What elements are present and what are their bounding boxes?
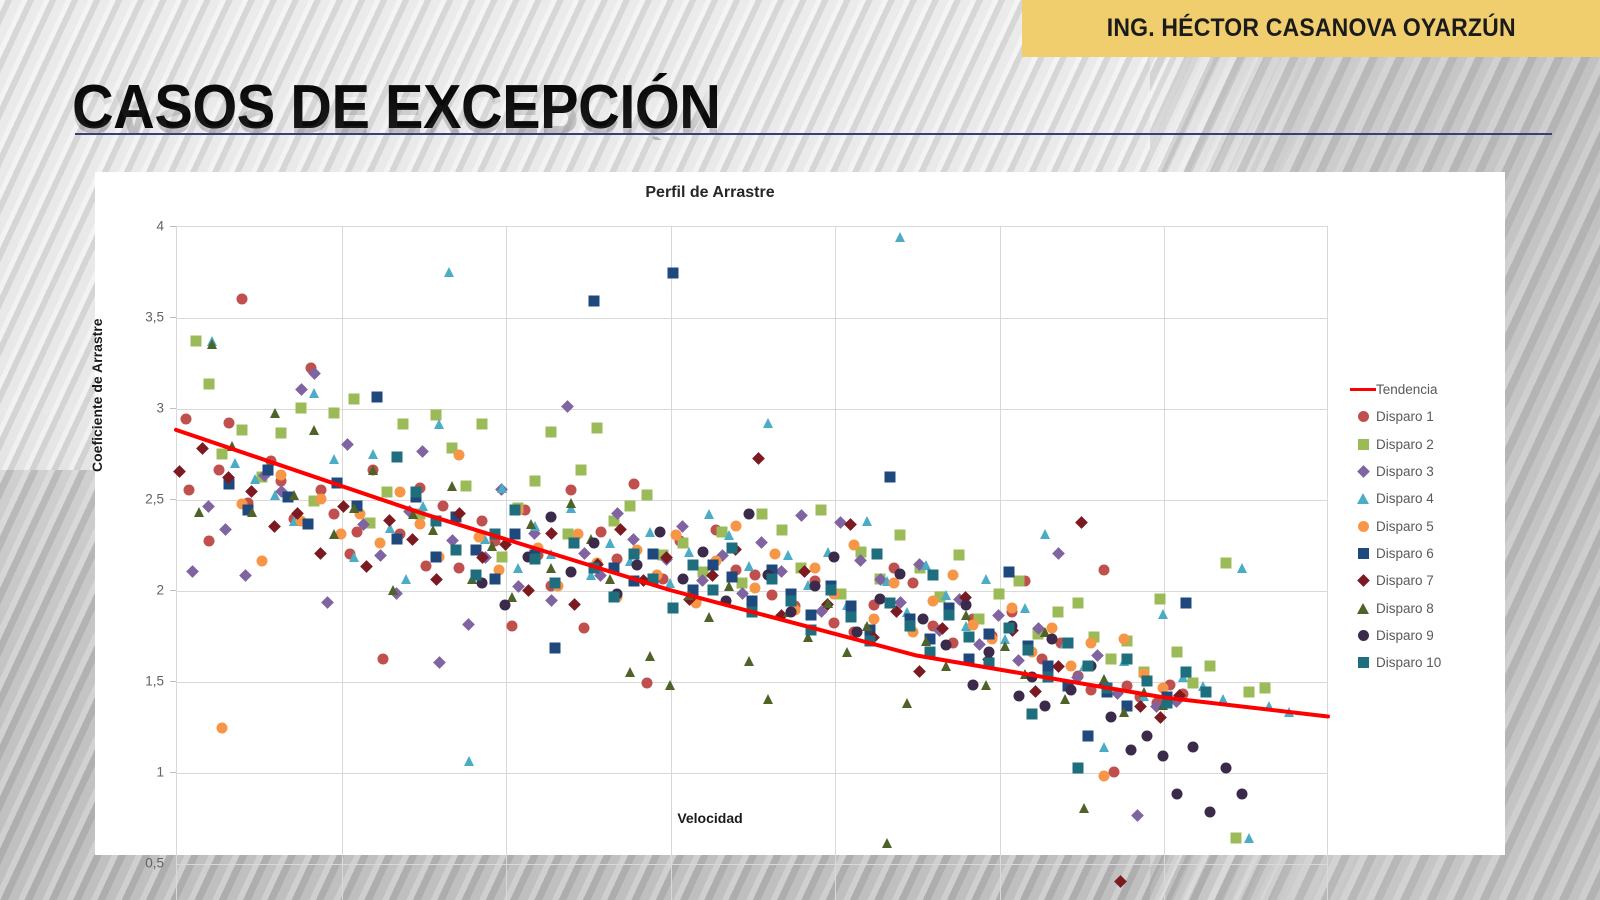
legend-item-disparo-1[interactable]: Disparo 1 — [1350, 403, 1500, 430]
scatter-point — [865, 635, 876, 646]
square-marker-icon — [1350, 548, 1376, 559]
scatter-point — [825, 585, 836, 596]
scatter-point — [500, 599, 511, 610]
scatter-point — [648, 574, 659, 585]
scatter-point — [1040, 529, 1050, 539]
scatter-point — [944, 610, 955, 621]
scatter-point — [378, 654, 389, 665]
scatter-point — [464, 756, 474, 766]
scatter-point — [983, 657, 994, 668]
scatter-point — [928, 595, 939, 606]
scatter-point — [687, 559, 698, 570]
scatter-point — [809, 563, 820, 574]
scatter-point — [763, 418, 773, 428]
scatter-point — [964, 632, 975, 643]
scatter-point — [450, 544, 461, 555]
scatter-point — [752, 453, 765, 466]
scatter-point — [1099, 770, 1110, 781]
scatter-point — [1029, 686, 1042, 699]
scatter-point — [247, 507, 257, 517]
scatter-point — [270, 408, 280, 418]
scatter-point — [295, 383, 308, 396]
scatter-point — [321, 596, 334, 609]
scatter-point — [1043, 672, 1054, 683]
scatter-point — [823, 598, 833, 608]
scatter-point — [487, 541, 497, 551]
scatter-point — [341, 438, 354, 451]
scatter-point — [1109, 767, 1120, 778]
scatter-point — [947, 570, 958, 581]
scatter-point — [895, 232, 905, 242]
circle-marker-icon — [1350, 521, 1376, 532]
scatter-point — [993, 588, 1004, 599]
scatter-point — [704, 612, 714, 622]
scatter-point — [1003, 623, 1014, 634]
scatter-point — [1079, 803, 1089, 813]
scatter-point — [217, 448, 228, 459]
scatter-point — [628, 479, 639, 490]
scatter-point — [641, 677, 652, 688]
scatter-point — [398, 419, 409, 430]
scatter-point — [302, 519, 313, 530]
scatter-point — [496, 552, 507, 563]
scatter-point — [981, 680, 991, 690]
scatter-point — [391, 452, 402, 463]
scatter-point — [575, 464, 586, 475]
scatter-point — [236, 424, 247, 435]
scatter-point — [1012, 655, 1025, 668]
scatter-point — [589, 563, 600, 574]
scatter-point — [885, 472, 896, 483]
scatter-point — [1072, 597, 1083, 608]
scatter-point — [332, 477, 343, 488]
scatter-point — [1020, 603, 1030, 613]
scatter-point — [641, 490, 652, 501]
header-banner-text: ING. HÉCTOR CASANOVA OYARZÚN — [1107, 14, 1516, 43]
scatter-point — [1158, 750, 1169, 761]
scatter-point — [1122, 681, 1133, 692]
scatter-point — [829, 552, 840, 563]
scatter-point — [526, 519, 536, 529]
scatter-point — [1237, 788, 1248, 799]
circle-marker-icon — [1350, 630, 1376, 641]
scatter-point — [1105, 712, 1116, 723]
scatter-point — [1204, 807, 1215, 818]
scatter-point — [882, 838, 892, 848]
legend-item-disparo-6[interactable]: Disparo 6 — [1350, 540, 1500, 567]
scatter-point — [983, 628, 994, 639]
circle-marker-icon — [1350, 411, 1376, 422]
scatter-point — [1158, 609, 1168, 619]
scatter-point — [795, 509, 808, 522]
triangle-marker-icon — [1350, 603, 1376, 614]
legend-item-label: Disparo 3 — [1376, 464, 1434, 479]
scatter-point — [605, 538, 615, 548]
legend-item-label: Disparo 7 — [1376, 573, 1434, 588]
scatter-point — [967, 619, 978, 630]
scatter-point — [203, 535, 214, 546]
scatter-point — [786, 606, 797, 617]
scatter-point — [684, 547, 694, 557]
legend-item-label: Disparo 6 — [1376, 546, 1434, 561]
scatter-point — [289, 490, 299, 500]
scatter-point — [961, 610, 971, 620]
scatter-point — [921, 560, 931, 570]
scatter-point — [720, 595, 731, 606]
scatter-point — [268, 520, 281, 533]
scatter-point — [569, 537, 580, 548]
scatter-point — [727, 543, 738, 554]
scatter-point — [374, 549, 387, 562]
chart-panel: Perfil de Arrastre Coeficiente de Arrast… — [95, 172, 1505, 855]
legend-item-label: Disparo 5 — [1376, 519, 1434, 534]
scatter-point — [407, 533, 420, 546]
scatter-point — [1102, 683, 1113, 694]
scatter-point — [852, 626, 863, 637]
scatter-point — [1026, 708, 1037, 719]
scatter-point — [724, 581, 734, 591]
scatter-point — [545, 527, 558, 540]
diamond-marker-icon — [1350, 467, 1376, 476]
scatter-point — [276, 470, 287, 481]
scatter-point — [428, 525, 438, 535]
scatter-point — [677, 574, 688, 585]
scatter-point — [433, 656, 446, 669]
scatter-point — [250, 474, 260, 484]
legend-item-label: Disparo 9 — [1376, 628, 1434, 643]
scatter-point — [444, 267, 454, 277]
scatter-point — [196, 442, 209, 455]
scatter-point — [941, 590, 951, 600]
scatter-point — [414, 519, 425, 530]
scatter-point — [1023, 645, 1034, 656]
scatter-point — [391, 534, 402, 545]
scatter-point — [349, 503, 359, 513]
scatter-point — [565, 484, 576, 495]
scatter-point — [744, 561, 754, 571]
scatter-point — [862, 516, 872, 526]
legend-item-disparo-4[interactable]: Disparo 4 — [1350, 485, 1500, 512]
legend-item-disparo-3[interactable]: Disparo 3 — [1350, 458, 1500, 485]
scatter-point — [219, 524, 232, 537]
scatter-point — [1188, 677, 1199, 688]
scatter-plot-area — [95, 172, 1505, 855]
scatter-point — [296, 403, 307, 414]
scatter-point — [628, 548, 639, 559]
scatter-point — [566, 498, 576, 508]
scatter-point — [263, 464, 274, 475]
scatter-point — [589, 537, 600, 548]
scatter-point — [744, 656, 754, 666]
scatter-point — [595, 526, 606, 537]
scatter-point — [1086, 637, 1097, 648]
scatter-point — [473, 532, 484, 543]
scatter-point — [408, 509, 418, 519]
scatter-point — [913, 666, 926, 679]
scatter-point — [589, 295, 600, 306]
scatter-point — [190, 335, 201, 346]
scatter-point — [349, 552, 359, 562]
chart-legend: TendenciaDisparo 1Disparo 2Disparo 3Disp… — [1350, 376, 1500, 676]
scatter-point — [329, 454, 339, 464]
scatter-point — [270, 490, 280, 500]
scatter-point — [755, 536, 768, 549]
scatter-point — [992, 609, 1005, 622]
scatter-point — [203, 379, 214, 390]
scatter-point — [194, 507, 204, 517]
scatter-point — [1155, 594, 1166, 605]
scatter-point — [1244, 833, 1254, 843]
line-marker-icon — [1350, 388, 1376, 391]
scatter-point — [684, 590, 694, 600]
scatter-point — [529, 554, 540, 565]
scatter-point — [697, 546, 708, 557]
scatter-point — [1086, 685, 1097, 696]
scatter-point — [1201, 686, 1212, 697]
scatter-point — [361, 560, 374, 573]
legend-item-disparo-9[interactable]: Disparo 9 — [1350, 622, 1500, 649]
scatter-point — [1105, 654, 1116, 665]
scatter-point — [750, 570, 761, 581]
scatter-point — [186, 565, 199, 578]
scatter-point — [506, 621, 517, 632]
scatter-point — [236, 293, 247, 304]
scatter-point — [665, 680, 675, 690]
scatter-point — [895, 568, 906, 579]
scatter-point — [806, 625, 817, 636]
scatter-point — [454, 450, 465, 461]
scatter-point — [490, 528, 501, 539]
scatter-point — [411, 486, 422, 497]
scatter-point — [1082, 730, 1093, 741]
scatter-point — [872, 548, 883, 559]
scatter-point — [924, 646, 935, 657]
legend-item-disparo-10[interactable]: Disparo 10 — [1350, 649, 1500, 676]
scatter-point — [829, 617, 840, 628]
scatter-point — [704, 509, 714, 519]
scatter-point — [1134, 700, 1147, 713]
scatter-point — [842, 647, 852, 657]
scatter-point — [1204, 661, 1215, 672]
scatter-point — [763, 694, 773, 704]
scatter-point — [1264, 701, 1274, 711]
scatter-point — [309, 388, 319, 398]
scatter-point — [1181, 666, 1192, 677]
scatter-point — [1060, 694, 1070, 704]
scatter-point — [1075, 516, 1088, 529]
scatter-point — [568, 598, 581, 611]
scatter-point — [724, 530, 734, 540]
scatter-point — [904, 621, 915, 632]
scatter-point — [309, 425, 319, 435]
scatter-point — [981, 574, 991, 584]
scatter-point — [1161, 697, 1172, 708]
scatter-point — [766, 590, 777, 601]
scatter-point — [578, 547, 591, 560]
scatter-point — [217, 723, 228, 734]
legend-item-label: Disparo 10 — [1376, 655, 1441, 670]
scatter-point — [928, 570, 939, 581]
scatter-point — [862, 621, 872, 631]
header-banner: ING. HÉCTOR CASANOVA OYARZÚN — [1022, 0, 1600, 57]
scatter-point — [625, 667, 635, 677]
scatter-point — [401, 574, 411, 584]
scatter-point — [239, 569, 252, 582]
scatter-point — [1000, 641, 1010, 651]
scatter-point — [510, 528, 521, 539]
scatter-point — [671, 530, 682, 541]
scatter-point — [565, 566, 576, 577]
scatter-point — [776, 524, 787, 535]
scatter-point — [1220, 557, 1231, 568]
scatter-point — [786, 595, 797, 606]
legend-item-label: Disparo 8 — [1376, 601, 1434, 616]
scatter-point — [1171, 646, 1182, 657]
scatter-point — [381, 486, 392, 497]
scatter-point — [579, 623, 590, 634]
scatter-point — [888, 577, 899, 588]
scatter-point — [592, 423, 603, 434]
scatter-point — [983, 646, 994, 657]
scatter-point — [1072, 763, 1083, 774]
scatter-point — [213, 464, 224, 475]
scatter-point — [1139, 687, 1149, 697]
scatter-point — [1125, 745, 1136, 756]
scatter-point — [256, 555, 267, 566]
legend-item-label: Disparo 2 — [1376, 437, 1434, 452]
scatter-point — [665, 578, 675, 588]
gridline-horizontal — [177, 864, 1327, 865]
scatter-point — [549, 577, 560, 588]
scatter-point — [437, 501, 448, 512]
scatter-point — [770, 548, 781, 559]
triangle-marker-icon — [1350, 493, 1376, 504]
scatter-point — [1118, 634, 1129, 645]
scatter-point — [207, 339, 217, 349]
scatter-point — [845, 601, 856, 612]
scatter-point — [645, 651, 655, 661]
scatter-point — [654, 526, 665, 537]
scatter-point — [625, 501, 636, 512]
scatter-point — [967, 679, 978, 690]
scatter-point — [477, 515, 488, 526]
y-tick-mark — [170, 863, 176, 864]
scatter-point — [510, 504, 521, 515]
scatter-point — [1220, 763, 1231, 774]
legend-item-label: Disparo 1 — [1376, 409, 1434, 424]
scatter-point — [513, 563, 523, 573]
scatter-point — [227, 441, 237, 451]
scatter-point — [1122, 654, 1133, 665]
scatter-point — [631, 559, 642, 570]
scatter-point — [1284, 707, 1294, 717]
scatter-point — [608, 563, 619, 574]
scatter-point — [371, 392, 382, 403]
legend-item-disparo-8[interactable]: Disparo 8 — [1350, 594, 1500, 621]
scatter-point — [1007, 603, 1018, 614]
scatter-point — [747, 606, 758, 617]
scatter-point — [546, 563, 556, 573]
scatter-point — [1062, 637, 1073, 648]
scatter-point — [902, 698, 912, 708]
scatter-point — [394, 486, 405, 497]
scatter-point — [1039, 701, 1050, 712]
scatter-point — [490, 574, 501, 585]
legend-item-disparo-5[interactable]: Disparo 5 — [1350, 512, 1500, 539]
scatter-point — [454, 563, 465, 574]
scatter-point — [806, 610, 817, 621]
title-underline-rule — [75, 133, 1552, 135]
scatter-point — [1119, 707, 1129, 717]
scatter-point — [180, 413, 191, 424]
legend-item-tendencia[interactable]: Tendencia — [1350, 376, 1500, 403]
scatter-point — [1218, 694, 1228, 704]
scatter-point — [546, 549, 556, 559]
scatter-point — [1244, 686, 1255, 697]
scatter-point — [1141, 676, 1152, 687]
scatter-point — [328, 508, 339, 519]
scatter-point — [173, 465, 186, 478]
scatter-point — [750, 583, 761, 594]
legend-item-label: Tendencia — [1376, 382, 1438, 397]
scatter-point — [416, 445, 429, 458]
scatter-point — [546, 426, 557, 437]
scatter-point — [1003, 566, 1014, 577]
scatter-point — [608, 592, 619, 603]
scatter-point — [918, 614, 929, 625]
scatter-point — [470, 570, 481, 581]
scatter-point — [743, 508, 754, 519]
scatter-point — [1052, 547, 1065, 560]
square-marker-icon — [1350, 439, 1376, 450]
scatter-point — [368, 449, 378, 459]
scatter-point — [549, 643, 560, 654]
scatter-point — [605, 574, 615, 584]
scatter-point — [477, 419, 488, 430]
scatter-point — [809, 581, 820, 592]
legend-item-disparo-7[interactable]: Disparo 7 — [1350, 567, 1500, 594]
scatter-point — [1066, 661, 1077, 672]
scatter-point — [276, 428, 287, 439]
scatter-point — [668, 268, 679, 279]
scatter-point — [329, 529, 339, 539]
title-block: CASOS DE EXCEPCIÓN CASOS DE EXCEPCIÓN — [72, 78, 1562, 178]
scatter-point — [885, 597, 896, 608]
scatter-point — [348, 393, 359, 404]
scatter-point — [960, 599, 971, 610]
square-marker-icon — [1350, 657, 1376, 668]
scatter-point — [730, 521, 741, 532]
scatter-point — [375, 537, 386, 548]
scatter-point — [941, 661, 951, 671]
scatter-point — [1171, 788, 1182, 799]
scatter-point — [1026, 672, 1037, 683]
scatter-point — [648, 548, 659, 559]
scatter-point — [941, 639, 952, 650]
scatter-point — [908, 577, 919, 588]
scatter-point — [756, 508, 767, 519]
legend-item-disparo-2[interactable]: Disparo 2 — [1350, 431, 1500, 458]
scatter-point — [1141, 730, 1152, 741]
scatter-point — [844, 518, 857, 531]
scatter-point — [431, 515, 442, 526]
scatter-point — [529, 475, 540, 486]
scatter-point — [223, 417, 234, 428]
scatter-point — [460, 481, 471, 492]
y-tick-label: 0,5 — [114, 856, 164, 871]
scatter-point — [1053, 606, 1064, 617]
scatter-point — [1013, 690, 1024, 701]
